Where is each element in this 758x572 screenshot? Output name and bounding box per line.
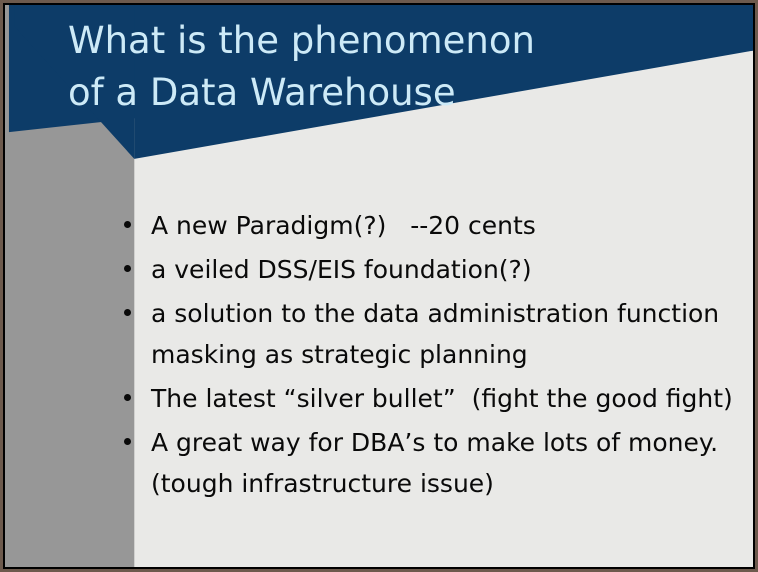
bullet-item: a veiled DSS/EIS foundation(?) (118, 249, 755, 290)
bullet-dot-icon (124, 221, 131, 228)
bullet-item: a solution to the data administration fu… (118, 293, 755, 375)
bullet-dot-icon (124, 265, 131, 272)
slide-frame: What is the phenomenon of a Data Warehou… (0, 0, 758, 572)
bullet-item: A new Paradigm(?) --20 cents (118, 205, 755, 246)
bullet-text: A great way for DBA’s to make lots of mo… (151, 422, 755, 504)
bullet-text: The latest “silver bullet” (fight the go… (151, 378, 755, 419)
slide-canvas-area: What is the phenomenon of a Data Warehou… (3, 3, 755, 569)
bullet-dot-icon (124, 309, 131, 316)
bullet-text: a solution to the data administration fu… (151, 293, 755, 375)
slide-bullet-list: A new Paradigm(?) --20 cents a veiled DS… (118, 205, 755, 507)
bullet-dot-icon (124, 438, 131, 445)
bullet-text: a veiled DSS/EIS foundation(?) (151, 249, 755, 290)
bullet-item: The latest “silver bullet” (fight the go… (118, 378, 755, 419)
bullet-item: A great way for DBA’s to make lots of mo… (118, 422, 755, 504)
bullet-dot-icon (124, 394, 131, 401)
bullet-text: A new Paradigm(?) --20 cents (151, 205, 755, 246)
